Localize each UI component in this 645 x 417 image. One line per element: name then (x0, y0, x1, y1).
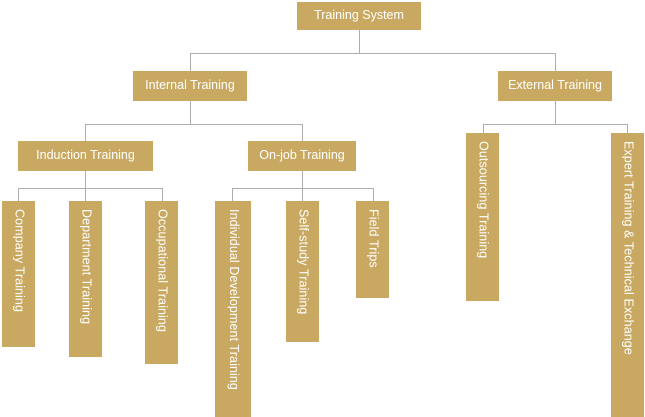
connector-drop-occupational (162, 188, 163, 201)
node-label-onjob-training: On-job Training (259, 149, 344, 163)
connector-level2-bus (190, 53, 555, 54)
connector-drop-field (373, 188, 374, 201)
node-label-field-trips: Field Trips (366, 209, 380, 268)
node-individual-development-training[interactable]: Individual Development Training (215, 201, 251, 417)
connector-drop-selfstudy (302, 188, 303, 201)
training-system-org-chart: Training System Internal Training Extern… (0, 0, 645, 417)
node-training-system[interactable]: Training System (297, 2, 421, 30)
node-label-occupational-training: Occupational Training (155, 209, 169, 332)
node-label-induction-training: Induction Training (36, 149, 135, 163)
connector-drop-onjob (302, 124, 303, 141)
connector-drop-outsourcing (483, 124, 484, 133)
node-induction-training[interactable]: Induction Training (18, 141, 153, 171)
connector-external-stem (555, 101, 556, 124)
node-label-internal-training: Internal Training (145, 79, 235, 93)
connector-induction-bus (18, 188, 162, 189)
node-label-selfstudy-training: Self-study Training (296, 209, 310, 314)
connector-internal-bus (85, 124, 302, 125)
node-expert-training[interactable]: Expert Training & Technical Exchange (611, 133, 644, 417)
connector-drop-individual (232, 188, 233, 201)
connector-root-stem (359, 30, 360, 53)
node-label-external-training: External Training (508, 79, 602, 93)
node-field-trips[interactable]: Field Trips (356, 201, 389, 298)
connector-drop-external (555, 53, 556, 71)
connector-induction-stem (85, 171, 86, 188)
node-label-outsourcing-training: Outsourcing Training (476, 141, 490, 258)
node-external-training[interactable]: External Training (498, 71, 612, 101)
connector-onjob-stem (302, 171, 303, 188)
connector-internal-stem (190, 101, 191, 124)
node-company-training[interactable]: Company Training (2, 201, 35, 347)
connector-external-bus (483, 124, 627, 125)
node-internal-training[interactable]: Internal Training (133, 71, 247, 101)
node-occupational-training[interactable]: Occupational Training (145, 201, 178, 364)
node-label-training-system: Training System (314, 9, 404, 23)
node-label-individual-development-training: Individual Development Training (226, 209, 240, 390)
node-label-expert-training: Expert Training & Technical Exchange (621, 141, 635, 355)
node-onjob-training[interactable]: On-job Training (248, 141, 356, 171)
connector-drop-department (85, 188, 86, 201)
connector-drop-internal (190, 53, 191, 71)
connector-drop-induction (85, 124, 86, 141)
node-selfstudy-training[interactable]: Self-study Training (286, 201, 319, 342)
connector-drop-expert (627, 124, 628, 133)
node-department-training[interactable]: Department Training (69, 201, 102, 357)
node-label-company-training: Company Training (12, 209, 26, 312)
node-label-department-training: Department Training (79, 209, 93, 324)
node-outsourcing-training[interactable]: Outsourcing Training (466, 133, 499, 301)
connector-drop-company (18, 188, 19, 201)
